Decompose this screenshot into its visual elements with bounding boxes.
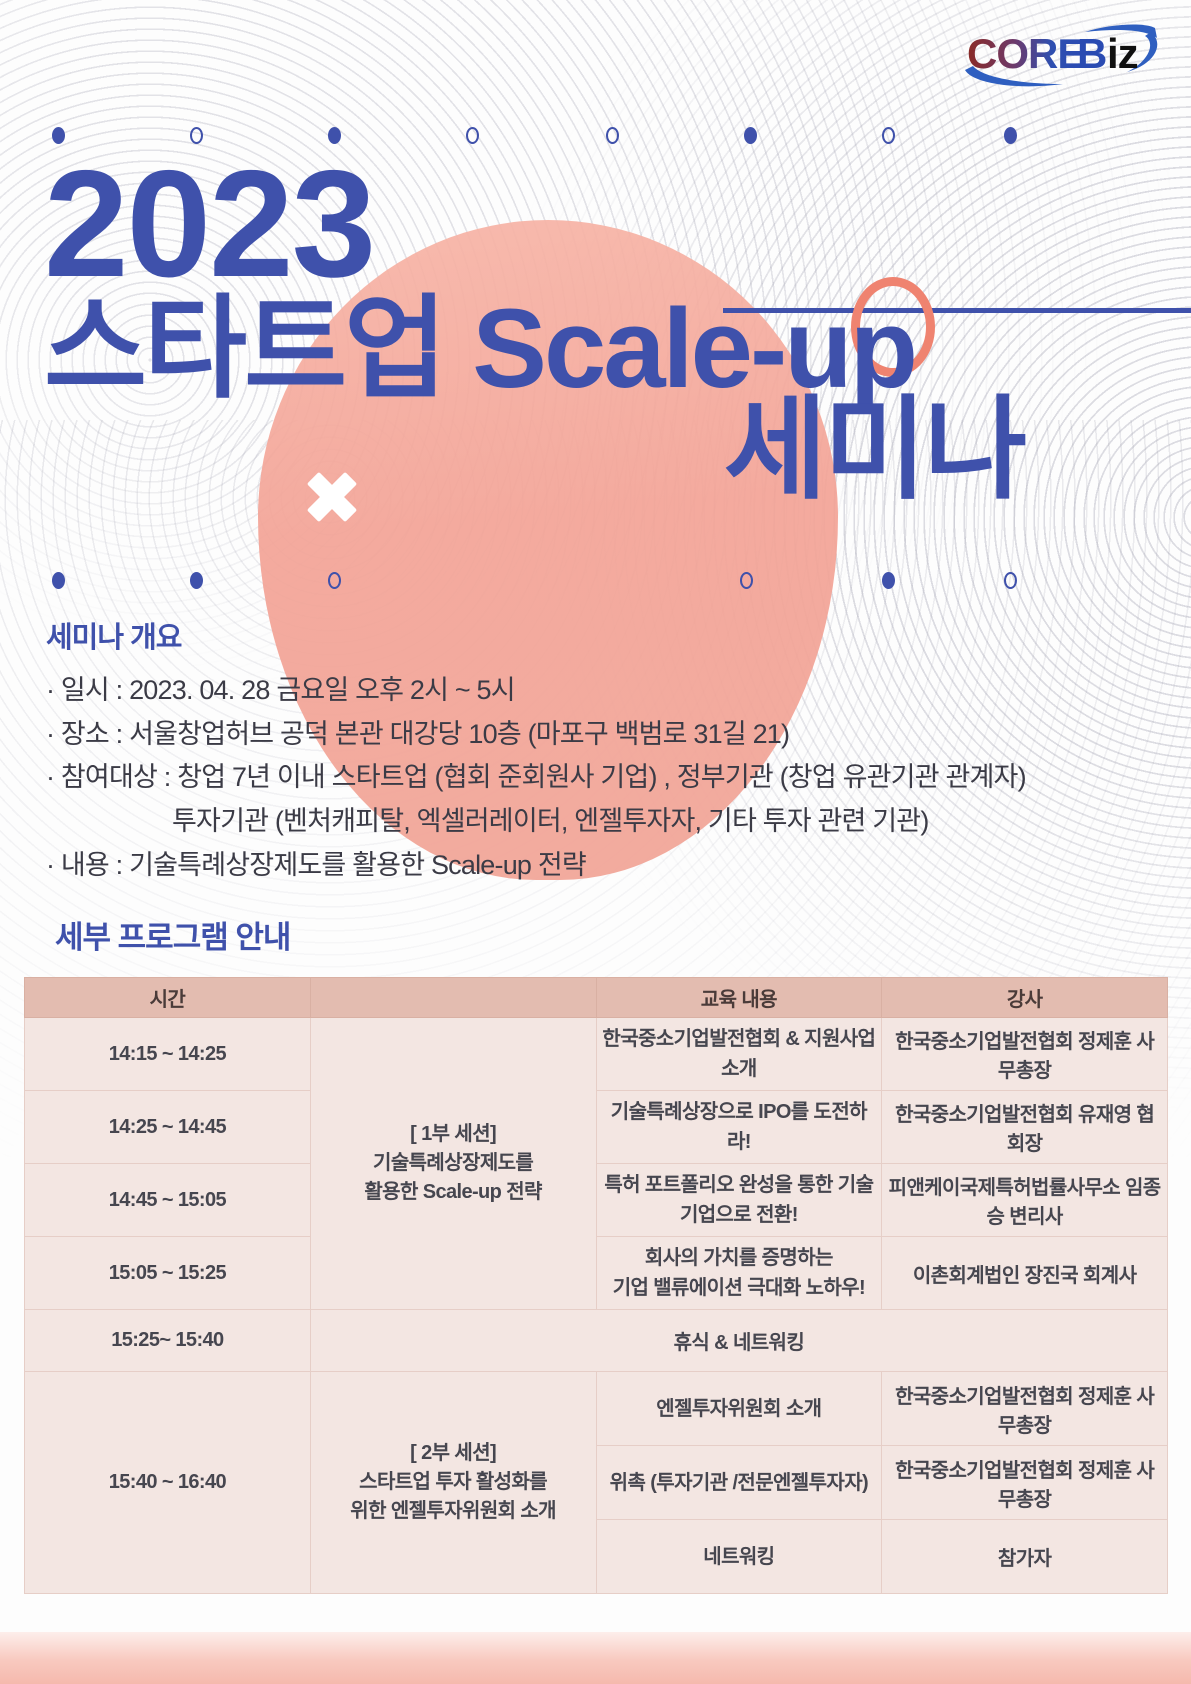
session-line: [ 1부 세션] xyxy=(315,1120,592,1149)
table-row: 15:40 ~ 16:40 [ 2부 세션] 스타트업 투자 활성화를 위한 엔… xyxy=(25,1372,1168,1446)
cell-time: 15:40 ~ 16:40 xyxy=(25,1372,311,1594)
dot-marker xyxy=(1004,127,1017,144)
session-line: 기술특례상장제도를 xyxy=(315,1149,592,1178)
session-line: 스타트업 투자 활성화를 xyxy=(315,1468,592,1497)
cell-break-label: 휴식 & 네트워킹 xyxy=(310,1310,1167,1372)
cell-topic: 특허 포트폴리오 완성을 통한 기술기업으로 전환! xyxy=(596,1164,882,1237)
dot-row-middle xyxy=(0,572,1191,594)
overview-line-content: · 내용 : 기술특례상장제도를 활용한 Scale-up 전략 xyxy=(46,844,1146,888)
session-line: [ 2부 세션] xyxy=(315,1439,592,1468)
session-line: 위한 엔젤투자위원회 소개 xyxy=(315,1497,592,1526)
overview-heading: 세미나 개요 xyxy=(46,614,1146,656)
table-head: 시간 교육 내용 강사 xyxy=(25,978,1168,1018)
cell-topic: 기술특례상장으로 IPO를 도전하라! xyxy=(596,1091,882,1164)
dot-marker xyxy=(466,127,479,144)
table-row: 14:15 ~ 14:25 [ 1부 세션] 기술특례상장제도를 활용한 Sca… xyxy=(25,1018,1168,1091)
col-header-session xyxy=(310,978,596,1018)
dot-marker xyxy=(740,572,753,589)
cell-topic: 네트워킹 xyxy=(596,1520,882,1594)
svg-text:iz: iz xyxy=(1107,30,1138,77)
col-header-speaker: 강사 xyxy=(882,978,1168,1018)
poster-canvas: CORE B iz 2023 스타트업 Scale-up 세미나 세미나 개요 … xyxy=(0,0,1191,1684)
dot-marker xyxy=(52,572,65,589)
cell-time: 14:25 ~ 14:45 xyxy=(25,1091,311,1164)
seminar-overview-section: 세미나 개요 · 일시 : 2023. 04. 28 금요일 오후 2시 ~ 5… xyxy=(46,614,1146,888)
program-schedule-table: 시간 교육 내용 강사 14:15 ~ 14:25 [ 1부 세션] 기술특례상… xyxy=(24,977,1168,1594)
overview-line-venue: · 장소 : 서울창업허브 공덕 본관 대강당 10층 (마포구 백범로 31길… xyxy=(46,713,1146,757)
cell-session-part1: [ 1부 세션] 기술특례상장제도를 활용한 Scale-up 전략 xyxy=(310,1018,596,1310)
cell-speaker: 참가자 xyxy=(882,1520,1168,1594)
title-year: 2023 xyxy=(44,152,1154,298)
cell-topic: 위촉 (투자기관 /전문엔젤투자자) xyxy=(596,1446,882,1520)
bottom-gradient-band xyxy=(0,1632,1191,1684)
overview-line-date: · 일시 : 2023. 04. 28 금요일 오후 2시 ~ 5시 xyxy=(46,669,1146,713)
table-row: 14:45 ~ 15:05 특허 포트폴리오 완성을 통한 기술기업으로 전환!… xyxy=(25,1164,1168,1237)
dot-marker xyxy=(606,127,619,144)
cell-speaker: 한국중소기업발전협회 정제훈 사무총장 xyxy=(882,1372,1168,1446)
dot-marker xyxy=(882,127,895,144)
program-table-wrapper: 시간 교육 내용 강사 14:15 ~ 14:25 [ 1부 세션] 기술특례상… xyxy=(24,977,1168,1594)
dot-marker xyxy=(744,127,757,144)
table-row: 15:05 ~ 15:25 회사의 가치를 증명하는 기업 밸류에이션 극대화 … xyxy=(25,1237,1168,1310)
cell-topic: 엔젤투자위원회 소개 xyxy=(596,1372,882,1446)
svg-text:CORE: CORE xyxy=(967,30,1084,77)
session-line: 활용한 Scale-up 전략 xyxy=(315,1178,592,1207)
cell-speaker: 피앤케이국제특허법률사무소 임종승 변리사 xyxy=(882,1164,1168,1237)
table-body: 14:15 ~ 14:25 [ 1부 세션] 기술특례상장제도를 활용한 Sca… xyxy=(25,1018,1168,1594)
dot-marker xyxy=(190,572,203,589)
program-heading: 세부 프로그램 안내 xyxy=(55,912,290,957)
svg-text:B: B xyxy=(1077,30,1106,77)
cell-time: 15:25~ 15:40 xyxy=(25,1310,311,1372)
cell-topic: 회사의 가치를 증명하는 기업 밸류에이션 극대화 노하우! xyxy=(596,1237,882,1310)
cell-session-part2: [ 2부 세션] 스타트업 투자 활성화를 위한 엔젤투자위원회 소개 xyxy=(310,1372,596,1594)
dot-marker xyxy=(882,572,895,589)
cell-time: 14:15 ~ 14:25 xyxy=(25,1018,311,1091)
cell-time: 15:05 ~ 15:25 xyxy=(25,1237,311,1310)
topic-line: 기업 밸류에이션 극대화 노하우! xyxy=(601,1273,878,1303)
col-header-time: 시간 xyxy=(25,978,311,1018)
overview-line-audience: · 참여대상 : 창업 7년 이내 스타트업 (협회 준회원사 기업) , 정부… xyxy=(46,756,1146,800)
col-header-topic: 교육 내용 xyxy=(596,978,882,1018)
table-header-row: 시간 교육 내용 강사 xyxy=(25,978,1168,1018)
overview-line-audience-cont: 투자기관 (벤처캐피탈, 엑셀러레이터, 엔젤투자자, 기타 투자 관련 기관) xyxy=(46,800,1146,844)
table-row: 14:25 ~ 14:45 기술특례상장으로 IPO를 도전하라! 한국중소기업… xyxy=(25,1091,1168,1164)
table-row-break: 15:25~ 15:40 휴식 & 네트워킹 xyxy=(25,1310,1168,1372)
cell-speaker: 이촌회계법인 장진국 회계사 xyxy=(882,1237,1168,1310)
poster-title-block: 2023 스타트업 Scale-up 세미나 xyxy=(44,152,1154,506)
topic-line: 회사의 가치를 증명하는 xyxy=(601,1243,878,1273)
dot-marker xyxy=(1004,572,1017,589)
corebiz-logo: CORE B iz xyxy=(959,22,1167,90)
cell-time: 14:45 ~ 15:05 xyxy=(25,1164,311,1237)
cell-speaker: 한국중소기업발전협회 정제훈 사무총장 xyxy=(882,1018,1168,1091)
dot-marker xyxy=(328,572,341,589)
cell-speaker: 한국중소기업발전협회 정제훈 사무총장 xyxy=(882,1446,1168,1520)
cell-topic: 한국중소기업발전협회 & 지원사업 소개 xyxy=(596,1018,882,1091)
cell-speaker: 한국중소기업발전협회 유재영 협회장 xyxy=(882,1091,1168,1164)
title-sub: 세미나 xyxy=(44,394,1154,506)
